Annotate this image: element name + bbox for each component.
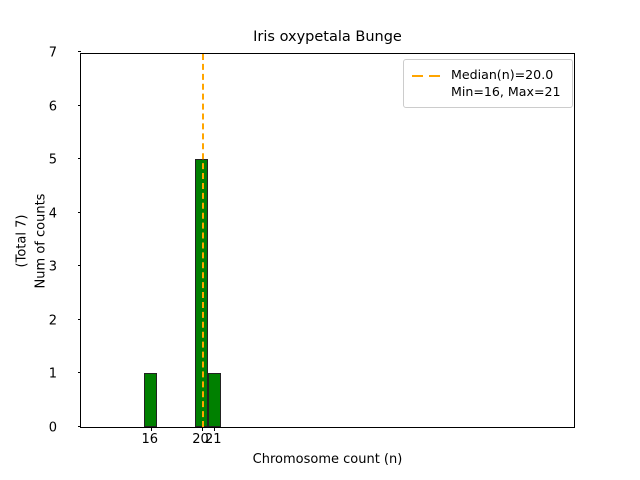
y-axis-tick-label: 4 xyxy=(17,207,57,220)
page-title: Iris oxypetala Bunge xyxy=(80,28,575,46)
y-axis-tick xyxy=(78,265,82,266)
y-axis-tick-label: 2 xyxy=(17,314,57,327)
bar xyxy=(208,373,221,427)
y-axis-tick-label: 3 xyxy=(17,261,57,274)
x-axis-tick xyxy=(151,427,152,431)
y-axis-tick-label: 0 xyxy=(17,422,57,435)
y-axis-tick-label: 7 xyxy=(17,47,57,60)
y-axis-tick-label: 5 xyxy=(17,154,57,167)
x-axis-tick-label: 21 xyxy=(183,433,243,447)
y-axis-tick xyxy=(78,51,82,52)
y-axis-tick xyxy=(78,319,82,320)
y-axis-tick-label: 1 xyxy=(17,368,57,381)
median-line-swatch-icon xyxy=(412,68,444,84)
y-axis-tick xyxy=(78,158,82,159)
median-line xyxy=(202,54,204,427)
x-axis-tick xyxy=(214,427,215,431)
y-axis-tick xyxy=(78,426,82,427)
y-axis-tick xyxy=(78,212,82,213)
legend-entry-text: Median(n)=20.0 Min=16, Max=21 xyxy=(451,66,561,100)
y-axis-tick xyxy=(78,105,82,106)
y-axis-total-label: (Total 7) xyxy=(15,214,30,267)
legend: Median(n)=20.0 Min=16, Max=21 xyxy=(403,59,573,108)
matplotlib-figure: Iris oxypetala Bunge Num of counts (Tota… xyxy=(0,0,640,480)
legend-range-label: Min=16, Max=21 xyxy=(451,83,561,100)
y-axis-tick-label: 6 xyxy=(17,100,57,113)
y-axis-tick xyxy=(78,372,82,373)
x-axis-label: Chromosome count (n) xyxy=(80,452,575,467)
plot-area xyxy=(80,53,575,428)
x-axis-tick xyxy=(202,427,203,431)
legend-median-label: Median(n)=20.0 xyxy=(451,66,561,83)
bar xyxy=(144,373,157,427)
